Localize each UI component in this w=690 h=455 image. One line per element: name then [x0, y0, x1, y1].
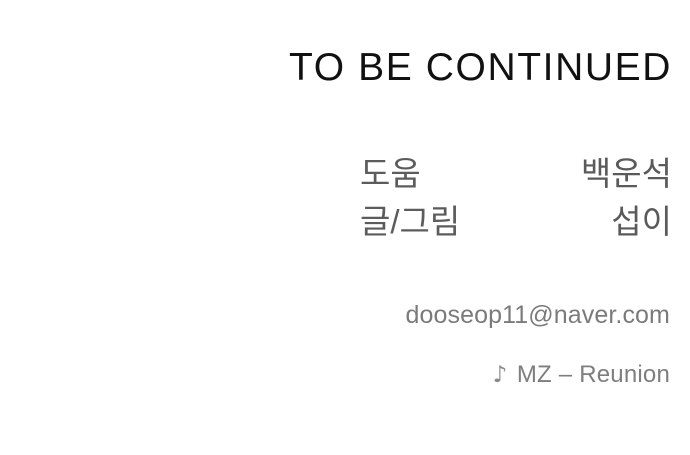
contact-row: dooseop11@naver.com — [0, 299, 670, 331]
music-track-title: MZ – Reunion — [517, 360, 670, 390]
credits-card: TO BE CONTINUED 도움 백운석 글/그림 섭이 dooseop11… — [0, 0, 690, 455]
credit-person-name: 백운석 — [581, 150, 672, 198]
music-note-icon: ♪ — [493, 360, 508, 390]
credit-person-name: 섭이 — [611, 198, 672, 246]
credit-row: 글/그림 섭이 — [0, 198, 672, 246]
credit-role-label: 도움 — [360, 150, 421, 198]
contact-email: dooseop11@naver.com — [406, 299, 671, 331]
page-title: TO BE CONTINUED — [289, 44, 672, 92]
credit-row: 도움 백운석 — [0, 150, 672, 198]
title-row: TO BE CONTINUED — [0, 44, 672, 92]
credit-role-label: 글/그림 — [360, 198, 460, 246]
music-credit-row: ♪ MZ – Reunion — [0, 360, 670, 390]
credit-list: 도움 백운석 글/그림 섭이 — [0, 150, 672, 246]
